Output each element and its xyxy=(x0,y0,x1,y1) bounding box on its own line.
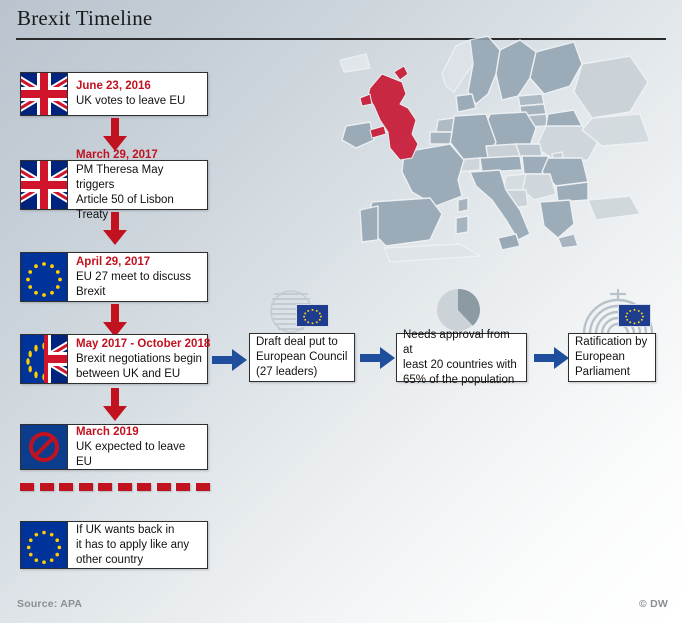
timeline-item-5-body: March 2019 UK expected to leave EU xyxy=(68,425,207,469)
european-parliament-logo-icon xyxy=(580,288,654,336)
uk-flag-icon xyxy=(21,161,68,209)
timeline-item-4-body: May 2017 - October 2018 Brexit negotiati… xyxy=(68,335,216,383)
flow-step-1: Draft deal put to European Council (27 l… xyxy=(249,333,355,382)
eu-flag-icon xyxy=(618,304,651,327)
timeline-epilogue: If UK wants back in it has to apply like… xyxy=(20,521,208,569)
timeline-item-1-date: June 23, 2016 xyxy=(76,79,201,94)
flow-step-2-text: Needs approval from at least 20 countrie… xyxy=(403,328,520,388)
flow-step-2: Needs approval from at least 20 countrie… xyxy=(396,333,527,382)
brexit-timeline-infographic: Brexit Timeline xyxy=(0,0,682,623)
eu-flag-icon xyxy=(296,304,329,327)
dashed-separator xyxy=(20,483,210,491)
european-council-logo-icon xyxy=(268,288,330,336)
timeline-item-5-text: UK expected to leave EU xyxy=(76,440,201,470)
timeline-item-3-body: April 29, 2017 EU 27 meet to discuss Bre… xyxy=(68,253,207,301)
down-arrow-3 xyxy=(102,304,128,338)
timeline-item-4-date: May 2017 - October 2018 xyxy=(76,337,210,352)
europe-map xyxy=(330,34,682,304)
flow-arrow-2 xyxy=(534,345,570,371)
flow-step-3-text: Ratification by European Parliament xyxy=(575,335,649,380)
timeline-item-2-body: March 29, 2017 PM Theresa May triggers A… xyxy=(68,161,207,209)
pie-chart-icon xyxy=(432,288,484,333)
timeline-item-5: March 2019 UK expected to leave EU xyxy=(20,424,208,470)
flow-step-3: Ratification by European Parliament xyxy=(568,333,656,382)
flow-arrow-1 xyxy=(360,345,396,371)
timeline-item-1-text: UK votes to leave EU xyxy=(76,94,201,109)
timeline-epilogue-body: If UK wants back in it has to apply like… xyxy=(68,522,207,568)
eu-flag-icon xyxy=(21,522,68,568)
timeline-item-1: June 23, 2016 UK votes to leave EU xyxy=(20,72,208,116)
eu-flag-icon xyxy=(21,253,68,301)
flow-arrow-0 xyxy=(212,347,248,373)
flow-step-1-text: Draft deal put to European Council (27 l… xyxy=(256,335,348,380)
uk-flag-icon xyxy=(21,73,68,115)
no-entry-icon xyxy=(21,425,68,469)
timeline-item-4: May 2017 - October 2018 Brexit negotiati… xyxy=(20,334,208,384)
down-arrow-4 xyxy=(102,388,128,422)
timeline-item-3: April 29, 2017 EU 27 meet to discuss Bre… xyxy=(20,252,208,302)
timeline-item-2-date: March 29, 2017 xyxy=(76,148,201,163)
eu-uk-split-flag-icon xyxy=(21,335,68,383)
source-label: Source: APA xyxy=(17,598,82,610)
credit-label: © DW xyxy=(639,598,668,610)
page-title: Brexit Timeline xyxy=(17,6,152,31)
timeline-item-5-date: March 2019 xyxy=(76,425,201,440)
timeline-item-3-date: April 29, 2017 xyxy=(76,255,201,270)
timeline-item-3-text: EU 27 meet to discuss Brexit xyxy=(76,270,201,300)
timeline-item-1-body: June 23, 2016 UK votes to leave EU xyxy=(68,73,207,115)
timeline-item-4-text: Brexit negotiations begin between UK and… xyxy=(76,352,210,382)
down-arrow-2 xyxy=(102,212,128,246)
timeline-epilogue-text: If UK wants back in it has to apply like… xyxy=(76,523,201,568)
timeline-item-2: March 29, 2017 PM Theresa May triggers A… xyxy=(20,160,208,210)
timeline-item-2-text: PM Theresa May triggers Article 50 of Li… xyxy=(76,163,201,223)
